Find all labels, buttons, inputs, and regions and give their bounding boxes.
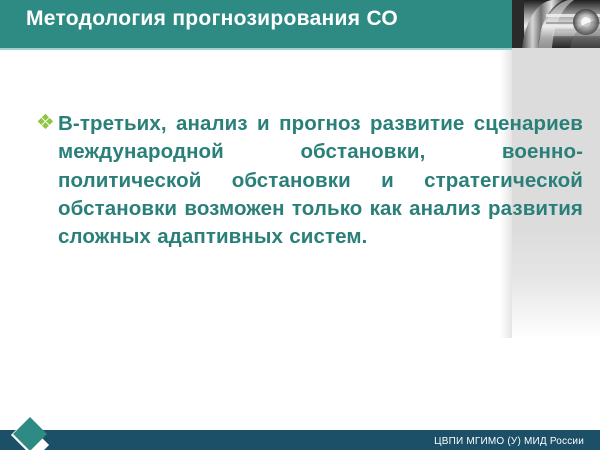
bullet-item-text: В-третьих, анализ и прогноз развитие сце…: [58, 110, 583, 251]
footer-organization-label: ЦВПИ МГИМО (У) МИД России: [434, 436, 584, 447]
slide-body: ❖ В-третьих, анализ и прогноз развитие с…: [0, 110, 600, 251]
slide-title: Методология прогнозирования СО: [26, 7, 496, 31]
bullet-list-item: ❖ В-третьих, анализ и прогноз развитие с…: [0, 110, 600, 251]
diamond-bullet-icon: ❖: [36, 112, 55, 133]
presentation-slide: Методология прогнозирования СО: [0, 0, 600, 450]
header-underline-divider: [0, 48, 512, 50]
header-machinery-photo: [512, 0, 600, 48]
